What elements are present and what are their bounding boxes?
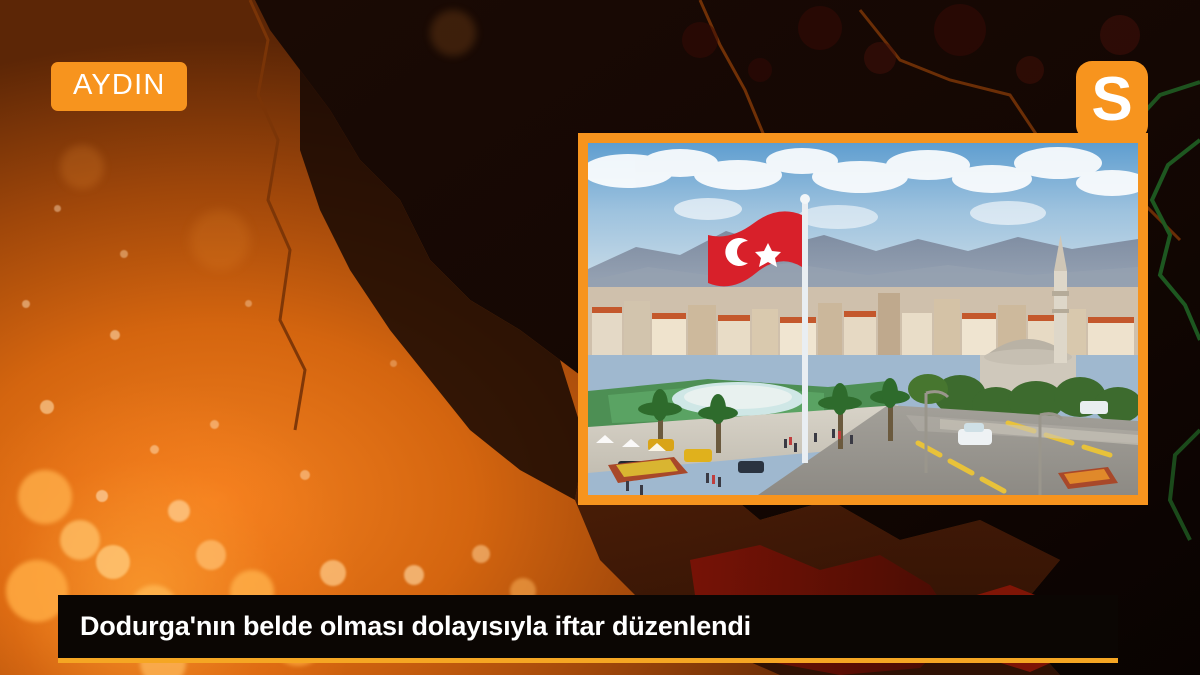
headline-underline: [58, 658, 1118, 663]
news-photo: [588, 143, 1138, 495]
brand-logo-glyph: S: [1091, 69, 1132, 131]
brand-logo[interactable]: S: [1076, 61, 1148, 141]
photo-illustration: [588, 143, 1138, 495]
photo-frame: [578, 133, 1148, 505]
city-badge: AYDIN: [51, 62, 187, 111]
headline-bar: Dodurga'nın belde olması dolayısıyla ift…: [58, 595, 1118, 658]
headline-text: Dodurga'nın belde olması dolayısıyla ift…: [58, 611, 751, 642]
news-card: AYDIN S: [0, 0, 1200, 675]
